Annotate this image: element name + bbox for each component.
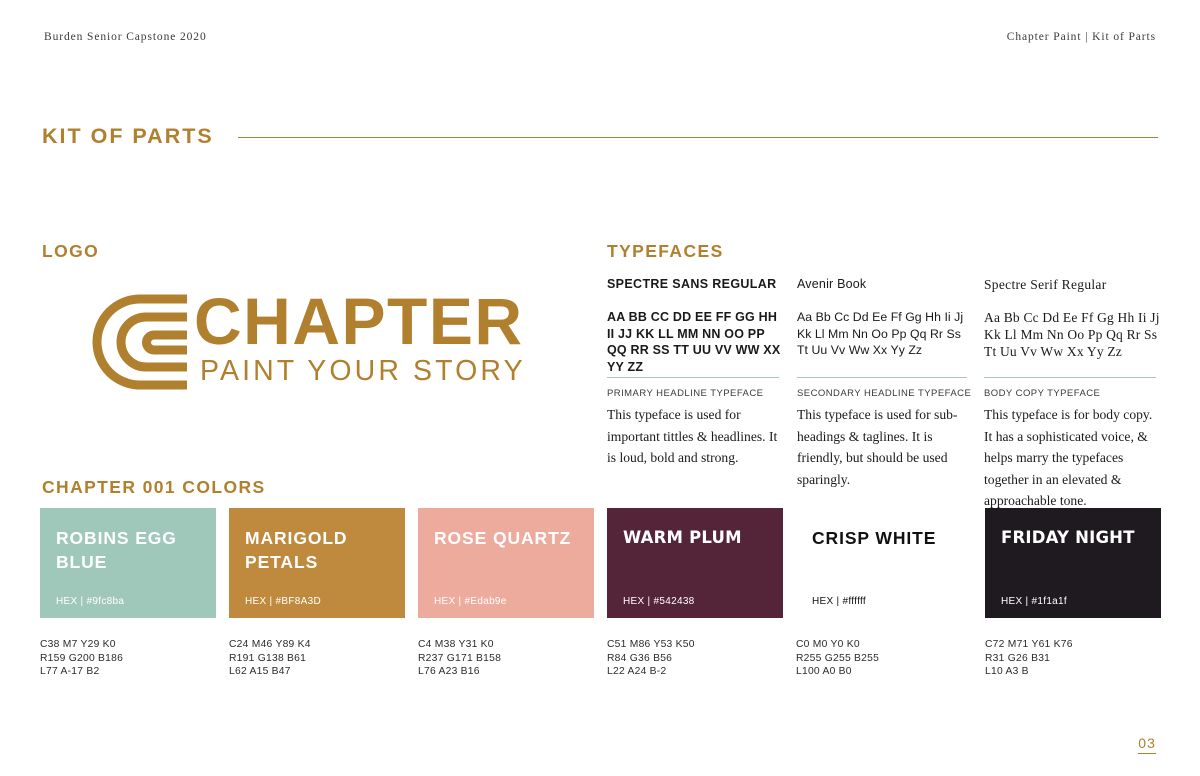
title-divider-rule [238,137,1158,138]
typeface-divider [607,377,779,378]
logo-tagline: PAINT YOUR STORY [200,354,526,388]
color-swatch-cell: FRIDAY NIGHTHEX | #1f1a1fC72 M71 Y61 K76… [985,508,1161,679]
logo-lockup: CHAPTER PAINT YOUR STORY [88,288,548,396]
color-swatch-box: MARIGOLD PETALSHEX | #BF8A3D [229,508,405,618]
color-swatch-hex: HEX | #BF8A3D [245,596,321,607]
section-heading-logo: LOGO [42,241,99,262]
color-swatch-cell: CRISP WHITEHEX | #ffffffC0 M0 Y0 K0 R255… [796,508,972,679]
color-swatch-specs: C51 M86 Y53 K50 R84 G36 B56 L22 A24 B-2 [607,638,783,679]
color-swatch-hex: HEX | #542438 [623,596,695,607]
color-swatch-name: ROBINS EGG BLUE [56,526,206,574]
color-swatch-box: ROBINS EGG BLUEHEX | #9fc8ba [40,508,216,618]
nested-c-arcs-mark-icon [88,290,192,394]
typeface-role-label: SECONDARY HEADLINE TYPEFACE [797,388,971,399]
section-heading-typefaces: TYPEFACES [607,241,724,262]
typeface-sample: Aa Bb Cc Dd Ee Ff Gg Hh Ii Jj Kk Ll Mm N… [797,309,971,359]
color-swatch-name: ROSE QUARTZ [434,526,584,550]
color-swatch-box: WARM PLUMHEX | #542438 [607,508,783,618]
color-swatch-hex: HEX | #Edab9e [434,596,507,607]
typeface-description: This typeface is used for sub-headings &… [797,404,973,490]
color-swatch-cell: ROSE QUARTZHEX | #Edab9eC4 M38 Y31 K0 R2… [418,508,594,679]
color-swatch-name: FRIDAY NIGHT [1001,526,1151,550]
color-swatch-specs: C4 M38 Y31 K0 R237 G171 B158 L76 A23 B16 [418,638,594,679]
color-swatch-grid: ROBINS EGG BLUEHEX | #9fc8baC38 M7 Y29 K… [40,508,1162,673]
color-swatch-cell: MARIGOLD PETALSHEX | #BF8A3DC24 M46 Y89 … [229,508,405,679]
color-swatch-name: MARIGOLD PETALS [245,526,395,574]
section-heading-colors: CHAPTER 001 COLORS [42,477,266,498]
running-head-left: Burden Senior Capstone 2020 [44,31,207,43]
typeface-role-label: PRIMARY HEADLINE TYPEFACE [607,388,763,399]
color-swatch-hex: HEX | #9fc8ba [56,596,124,607]
typeface-sample: AA BB CC DD EE FF GG HH II JJ KK LL MM N… [607,309,785,375]
typeface-sample: Aa Bb Cc Dd Ee Ff Gg Hh Ii Jj Kk Ll Mm N… [984,309,1164,360]
typeface-name: SPECTRE SANS REGULAR [607,277,785,292]
color-swatch-box: FRIDAY NIGHTHEX | #1f1a1f [985,508,1161,618]
running-head-right: Chapter Paint | Kit of Parts [1007,31,1156,43]
typeface-divider [984,377,1156,378]
color-swatch-specs: C72 M71 Y61 K76 R31 G26 B31 L10 A3 B [985,638,1161,679]
color-swatch-specs: C0 M0 Y0 K0 R255 G255 B255 L100 A0 B0 [796,638,972,679]
page-number: 03 [1138,735,1156,754]
color-swatch-cell: WARM PLUMHEX | #542438C51 M86 Y53 K50 R8… [607,508,783,679]
page-title: KIT OF PARTS [42,124,214,149]
typeface-column-body: Spectre Serif Regular Aa Bb Cc Dd Ee Ff … [984,277,1164,360]
color-swatch-name: CRISP WHITE [812,526,962,550]
color-swatch-specs: C38 M7 Y29 K0 R159 G200 B186 L77 A-17 B2 [40,638,216,679]
color-swatch-name: WARM PLUM [623,526,773,550]
typeface-column-primary: SPECTRE SANS REGULAR AA BB CC DD EE FF G… [607,277,785,375]
color-swatch-box: CRISP WHITEHEX | #ffffff [796,508,972,618]
typeface-divider [797,377,967,378]
color-swatch-specs: C24 M46 Y89 K4 R191 G138 B61 L62 A15 B47 [229,638,405,679]
style-guide-page: Burden Senior Capstone 2020 Chapter Pain… [0,0,1200,776]
color-swatch-hex: HEX | #1f1a1f [1001,596,1067,607]
color-swatch-hex: HEX | #ffffff [812,596,866,607]
page-title-row: KIT OF PARTS [42,123,1158,149]
typeface-description: This typeface is for body copy. It has a… [984,404,1162,512]
color-swatch-cell: ROBINS EGG BLUEHEX | #9fc8baC38 M7 Y29 K… [40,508,216,679]
typeface-name: Avenir Book [797,277,971,292]
typeface-name: Spectre Serif Regular [984,277,1164,292]
logo-wordmark: CHAPTER [194,286,524,356]
color-swatch-box: ROSE QUARTZHEX | #Edab9e [418,508,594,618]
typeface-description: This typeface is used for important titt… [607,404,783,469]
typeface-role-label: BODY COPY TYPEFACE [984,388,1100,399]
typeface-column-secondary: Avenir Book Aa Bb Cc Dd Ee Ff Gg Hh Ii J… [797,277,971,359]
